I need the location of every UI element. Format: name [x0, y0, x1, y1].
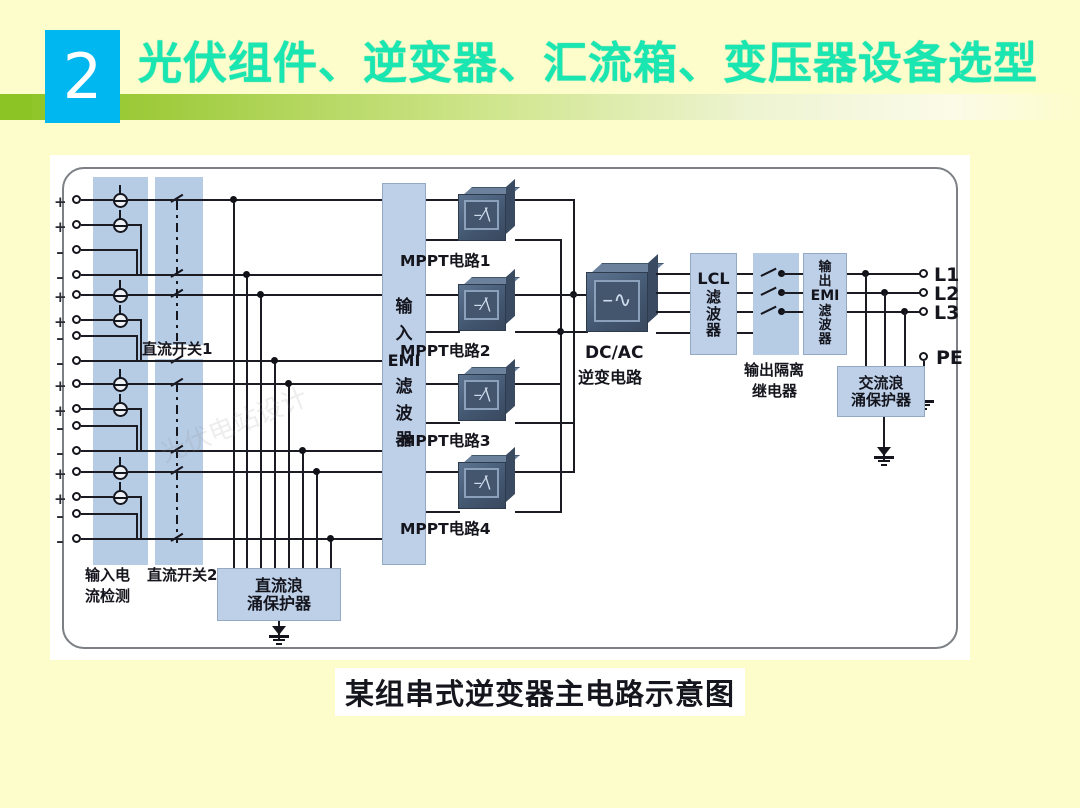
join-bus: [136, 513, 138, 540]
circuit-diagram-figure: + + – – + + – – + + – – + + – –: [50, 155, 970, 660]
lcl-label-1: LCL: [697, 270, 729, 287]
relay-out-1: [781, 273, 803, 275]
mppt-symbol: –⁄\: [466, 382, 498, 408]
dcac-label-line1: DC/AC: [585, 343, 643, 363]
mppt-side-face: [506, 359, 515, 414]
emi-to-mppt: [426, 294, 460, 296]
emi-to-mppt: [426, 331, 460, 333]
dcac-symbol: –∿: [596, 285, 638, 317]
terminal-lead: [81, 408, 113, 410]
input-current-detect-label-line1: 输入电: [85, 567, 130, 583]
lcl-label-2: 滤: [706, 289, 721, 305]
output-label-PE: PE: [936, 347, 963, 369]
dcac-inverter-device: –∿: [586, 263, 658, 335]
relay-out-3: [781, 311, 803, 313]
output-terminal-L3[interactable]: [919, 307, 928, 316]
figure-caption-wrapper: 某组串式逆变器主电路示意图: [0, 668, 1080, 716]
current-sensor: [113, 218, 128, 233]
join-bus: [136, 335, 138, 362]
spd-drop: [246, 274, 248, 570]
dc-switch1-label: 直流开关1: [142, 341, 212, 357]
terminal-sign: +: [54, 291, 66, 303]
current-sensor: [113, 377, 128, 392]
terminal-lead: [81, 294, 113, 296]
output-label-L3: L3: [934, 302, 959, 324]
spd-drop: [288, 383, 290, 570]
emi-to-mppt: [426, 422, 460, 424]
terminal-sign: +: [54, 468, 66, 480]
dc-spd-ground-arrow: [272, 626, 286, 635]
output-relay-label-line2: 继电器: [752, 383, 797, 399]
join-bus: [136, 360, 156, 362]
out-emi-l2: 出: [818, 275, 831, 289]
input-terminal[interactable]: [72, 245, 81, 254]
slide-header: 2 光伏组件、逆变器、汇流箱、变压器设备选型: [0, 0, 1080, 140]
ac-out-wire: [656, 273, 690, 275]
input-terminal[interactable]: [72, 421, 81, 430]
mppt-side-face: [506, 179, 515, 234]
join-bus: [140, 496, 142, 540]
terminal-lead: [81, 538, 136, 540]
input-terminal[interactable]: [72, 270, 81, 279]
out-emi-l5: 波: [818, 319, 831, 333]
page-title: 光伏组件、逆变器、汇流箱、变压器设备选型: [138, 36, 1038, 96]
mppt-label-3: MPPT电路3: [400, 429, 491, 451]
terminal-sign: –: [54, 332, 66, 344]
input-emi-filter-box: 输 入 EMI 滤 波 器: [382, 183, 426, 565]
terminal-sign: –: [54, 510, 66, 522]
mppt-out: [515, 422, 575, 424]
junction-dot: [285, 380, 292, 387]
input-terminal[interactable]: [72, 356, 81, 365]
header-green-bar: [0, 94, 1080, 120]
input-terminal[interactable]: [72, 220, 81, 229]
terminal-sign: –: [54, 271, 66, 283]
lcl-label-4: 器: [706, 322, 721, 338]
junction-dot: [313, 468, 320, 475]
input-terminal[interactable]: [72, 379, 81, 388]
terminal-sign: +: [54, 316, 66, 328]
input-terminal[interactable]: [72, 195, 81, 204]
input-terminal[interactable]: [72, 467, 81, 476]
spd-drop: [233, 199, 235, 570]
input-terminal[interactable]: [72, 509, 81, 518]
terminal-lead: [81, 249, 136, 251]
junction-dot: [327, 535, 334, 542]
emi-to-mppt: [426, 199, 460, 201]
spd-drop: [274, 360, 276, 570]
terminal-sign: –: [54, 246, 66, 258]
ac-spd-tap-2: [884, 292, 886, 368]
dc-bus: [156, 274, 382, 276]
terminal-sign: –: [54, 447, 66, 459]
relay-out-2: [781, 292, 803, 294]
out-emi-l6: 器: [818, 333, 831, 347]
terminal-sign: +: [54, 380, 66, 392]
terminal-sign: +: [54, 405, 66, 417]
join-bus: [136, 450, 156, 452]
current-sensor: [113, 288, 128, 303]
output-terminal-L1[interactable]: [919, 269, 928, 278]
terminal-sign: +: [54, 196, 66, 208]
join-bus: [140, 224, 142, 276]
sensor-out: [128, 294, 156, 296]
junction-dot: [257, 291, 264, 298]
current-sensor: [113, 465, 128, 480]
mppt-side-face: [506, 269, 515, 324]
dc-link-to-inverter: [560, 294, 588, 296]
terminal-lead: [81, 383, 113, 385]
sensor-out: [128, 471, 156, 473]
terminal-lead: [81, 450, 136, 452]
dc-switch2-label: 直流开关2: [147, 567, 217, 583]
output-relay-label-line1: 输出隔离: [744, 362, 804, 378]
mppt-out: [515, 471, 575, 473]
dc-spd-label-line2: 涌保护器: [247, 595, 311, 612]
terminal-lead: [81, 513, 136, 515]
terminal-sign: –: [54, 422, 66, 434]
terminal-sign: +: [54, 221, 66, 233]
dc-bus: [156, 538, 382, 540]
section-number: 2: [63, 46, 102, 108]
terminal-lead: [81, 224, 113, 226]
mppt-out: [515, 199, 575, 201]
terminal-lead: [81, 360, 136, 362]
current-sensor: [113, 490, 128, 505]
dc-link-positive: [573, 199, 575, 473]
junction-dot: [299, 447, 306, 454]
terminal-lead: [81, 425, 136, 427]
sensor-out: [128, 199, 156, 201]
spd-drop: [330, 538, 332, 570]
join-bus: [136, 274, 156, 276]
header-green-accent: [0, 94, 32, 120]
input-terminal[interactable]: [72, 492, 81, 501]
terminal-lead: [81, 335, 136, 337]
dc-bus: [156, 199, 382, 201]
input-emi-l5: 波: [396, 405, 413, 423]
junction-dot: [243, 271, 250, 278]
dc-switch1-band: [155, 177, 203, 345]
junction-dot: [271, 357, 278, 364]
dc-bus: [156, 294, 382, 296]
emi-to-mppt: [426, 511, 460, 513]
ac-out-wire: [656, 332, 690, 334]
dc-bus: [156, 450, 382, 452]
ac-out-wire: [656, 311, 690, 313]
dc-bus: [156, 383, 382, 385]
terminal-sign: –: [54, 357, 66, 369]
dcac-label-line2: 逆变电路: [578, 364, 642, 388]
dc-bus: [156, 360, 382, 362]
ac-surge-protector-box: 交流浪 涌保护器: [837, 366, 925, 417]
section-number-badge: 2: [45, 30, 120, 123]
join-bus: [140, 408, 142, 452]
spd-drop: [302, 450, 304, 570]
join-bus: [136, 249, 138, 276]
input-terminal[interactable]: [72, 446, 81, 455]
junction-dot: [230, 196, 237, 203]
current-sensor: [113, 313, 128, 328]
spd-drop: [260, 294, 262, 570]
ac-spd-ground-arrow: [877, 447, 891, 456]
join-bus: [136, 538, 156, 540]
input-emi-l4: 滤: [396, 378, 413, 396]
mppt-symbol: –⁄\: [466, 202, 498, 228]
terminal-sign: +: [54, 493, 66, 505]
input-terminal[interactable]: [72, 404, 81, 413]
current-sensor: [113, 193, 128, 208]
output-terminal-PE[interactable]: [919, 352, 928, 361]
input-current-detect-label-line2: 流检测: [85, 588, 130, 604]
dc-spd-label-line1: 直流浪: [255, 577, 303, 594]
mppt-out: [515, 239, 562, 241]
current-sensor: [113, 402, 128, 417]
mppt-out: [515, 383, 562, 385]
mppt-label-4: MPPT电路4: [400, 517, 491, 539]
input-terminal[interactable]: [72, 331, 81, 340]
terminal-lead: [81, 471, 113, 473]
sensor-out: [128, 383, 156, 385]
dc-bus: [156, 471, 382, 473]
terminal-lead: [81, 319, 113, 321]
mppt-device-1: –⁄\: [458, 187, 516, 243]
ac-spd-label-line2: 涌保护器: [851, 392, 911, 408]
dc-link-to-inverter: [560, 331, 588, 333]
mppt-label-2: MPPT电路2: [400, 339, 491, 361]
terminal-lead: [81, 496, 113, 498]
mppt-label-1: MPPT电路1: [400, 249, 491, 271]
input-terminal[interactable]: [72, 315, 81, 324]
join-bus: [136, 425, 138, 452]
out-emi-l4: 滤: [818, 305, 831, 319]
figure-caption: 某组串式逆变器主电路示意图: [335, 668, 745, 716]
spd-drop: [316, 471, 318, 570]
line-L1: [847, 273, 923, 275]
output-emi-filter-box: 输 出 EMI 滤 波 器: [803, 253, 847, 355]
out-emi-l3: EMI: [811, 289, 840, 304]
terminal-lead: [81, 199, 113, 201]
terminal-sign: –: [54, 535, 66, 547]
mppt-device-2: –⁄\: [458, 277, 516, 333]
ac-spd-tap-3: [904, 311, 906, 368]
ac-spd-label-line1: 交流浪: [858, 375, 903, 391]
mppt-side-face: [506, 447, 515, 502]
mppt-device-3: –⁄\: [458, 367, 516, 423]
dc-link-negative: [560, 239, 562, 513]
input-emi-l1: 输: [396, 298, 413, 316]
lcl-label-3: 波: [706, 306, 721, 322]
lcl-filter-box: LCL 滤 波 器: [690, 253, 737, 355]
mppt-symbol: –⁄\: [466, 470, 498, 496]
emi-to-mppt: [426, 471, 460, 473]
terminal-lead: [81, 274, 136, 276]
mppt-device-4: –⁄\: [458, 455, 516, 511]
dc-switch2-linkage: [176, 383, 178, 543]
mppt-symbol: –⁄\: [466, 292, 498, 318]
input-terminal[interactable]: [72, 290, 81, 299]
ac-out-wire: [656, 292, 690, 294]
ac-spd-tap-1: [865, 273, 867, 368]
emi-to-mppt: [426, 383, 460, 385]
output-terminal-L2[interactable]: [919, 288, 928, 297]
emi-to-mppt: [426, 239, 460, 241]
mppt-out: [515, 511, 562, 513]
input-terminal[interactable]: [72, 534, 81, 543]
dc-surge-protector-box: 直流浪 涌保护器: [217, 568, 341, 621]
